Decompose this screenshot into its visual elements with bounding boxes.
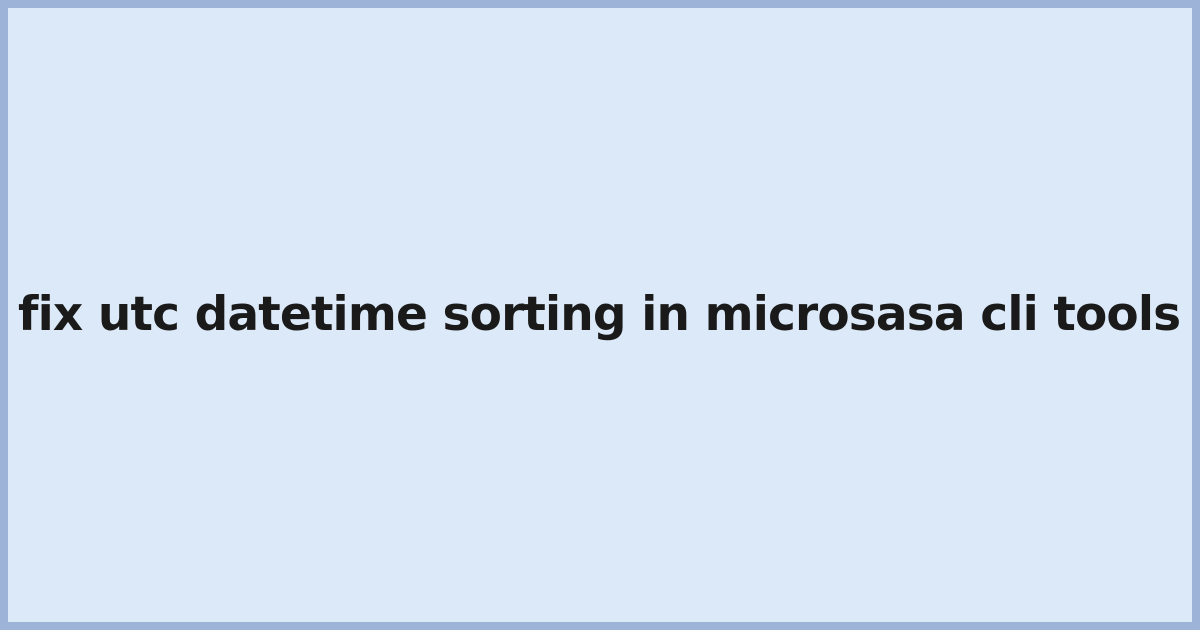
page-title: fix utc datetime sorting in microsasa cl… [18, 290, 1186, 341]
title-container: fix utc datetime sorting in microsasa cl… [8, 290, 1192, 341]
preview-card: fix utc datetime sorting in microsasa cl… [0, 0, 1200, 630]
